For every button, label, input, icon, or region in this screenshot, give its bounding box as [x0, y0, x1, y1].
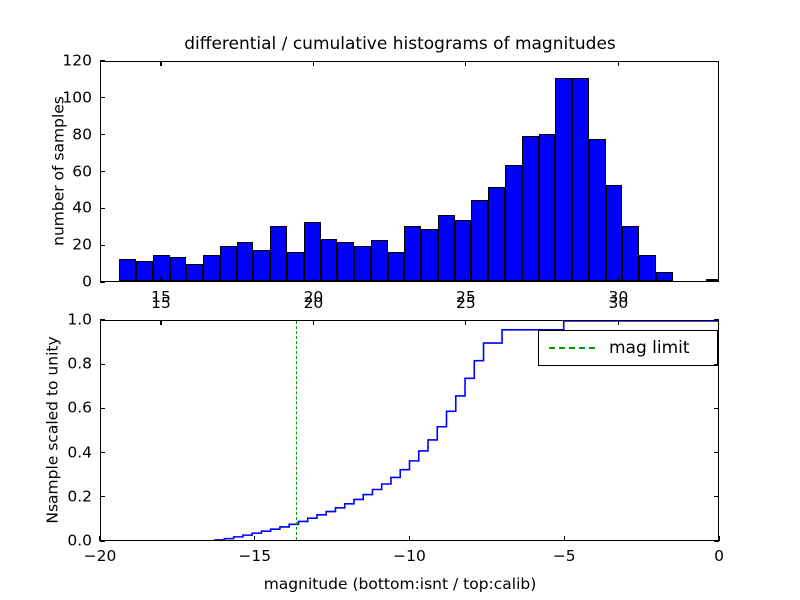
x-tick-top [313, 61, 314, 66]
y-tick [100, 97, 105, 98]
x-tick-label: −10 [393, 549, 426, 565]
x-tick-top [618, 61, 619, 66]
x-tick-secondary [160, 320, 161, 325]
x-tick-secondary [313, 320, 314, 325]
histogram-bar [304, 222, 321, 281]
x-tick-label-secondary: 30 [608, 296, 628, 312]
histogram-bar [136, 261, 153, 281]
histogram-bar [488, 187, 505, 281]
histogram-bar [438, 215, 455, 281]
x-tick-secondary [618, 320, 619, 325]
x-tick [160, 277, 161, 282]
x-tick [254, 536, 255, 541]
y-tick-right [714, 496, 719, 497]
histogram-plot-area [101, 62, 718, 281]
histogram-bar [639, 255, 656, 281]
histogram-bar [186, 264, 203, 281]
histogram-bar [119, 259, 136, 281]
y-tick [100, 171, 105, 172]
histogram-bar [220, 246, 237, 281]
y-tick [100, 540, 105, 541]
y-tick [100, 364, 105, 365]
mag-limit-vline [296, 321, 297, 540]
y-tick [100, 408, 105, 409]
x-tick [718, 536, 719, 541]
histogram-bar [203, 255, 220, 281]
histogram-bar [388, 252, 405, 281]
histogram-bar [539, 134, 556, 281]
x-tick-label-secondary: 20 [304, 296, 324, 312]
cumulative-x-axis-label: magnitude (bottom:isnt / top:calib) [0, 575, 800, 593]
histogram-bar [354, 246, 371, 281]
x-tick-label: −20 [84, 549, 117, 565]
histogram-bar [522, 136, 539, 281]
x-tick-top [465, 61, 466, 66]
histogram-bar [471, 200, 488, 281]
x-tick-top [160, 61, 161, 66]
y-tick-right [714, 408, 719, 409]
histogram-bar [555, 78, 572, 281]
cumulative-y-axis-label: Nsample scaled to unity [44, 319, 62, 540]
histogram-bar [656, 272, 673, 281]
histogram-bar [321, 239, 338, 281]
x-tick-label: −15 [238, 549, 271, 565]
x-tick [618, 277, 619, 282]
y-tick-right [714, 364, 719, 365]
histogram-bar [606, 185, 623, 281]
y-tick [100, 452, 105, 453]
differential-histogram-axes [100, 61, 719, 282]
x-tick [409, 536, 410, 541]
y-tick [100, 496, 105, 497]
x-tick-label: −5 [553, 549, 576, 565]
cumulative-histogram-axes: mag limit [100, 320, 719, 541]
histogram-bar [270, 226, 287, 281]
x-tick-label-secondary: 25 [456, 296, 476, 312]
histogram-bar [505, 165, 522, 281]
histogram-bar [287, 252, 304, 281]
histogram-bar [170, 257, 187, 281]
histogram-bar [589, 139, 606, 281]
y-tick [100, 245, 105, 246]
y-tick [100, 134, 105, 135]
histogram-bar [572, 78, 589, 281]
histogram-bar [237, 242, 254, 281]
histogram-bar [421, 229, 438, 281]
x-tick-label-secondary: 15 [151, 296, 171, 312]
histogram-bar [706, 279, 718, 281]
y-tick [100, 60, 105, 61]
histogram-bar [455, 220, 472, 281]
y-tick [100, 208, 105, 209]
histogram-bar [371, 240, 388, 281]
y-tick [100, 319, 105, 320]
mag-limit-legend-swatch [549, 347, 595, 349]
histogram-y-axis-label: number of samples [50, 60, 68, 281]
x-tick-label: 0 [714, 549, 724, 565]
x-tick [564, 536, 565, 541]
histogram-bar [253, 250, 270, 281]
y-tick [100, 281, 105, 282]
figure-canvas: differential / cumulative histograms of … [0, 0, 800, 600]
histogram-bar [337, 242, 354, 281]
x-tick [465, 277, 466, 282]
histogram-bar [404, 226, 421, 281]
legend: mag limit [538, 330, 718, 366]
x-tick [99, 536, 100, 541]
histogram-bar [622, 226, 639, 281]
y-tick-right [714, 319, 719, 320]
x-tick [313, 277, 314, 282]
page-title: differential / cumulative histograms of … [0, 34, 800, 54]
x-tick-secondary [465, 320, 466, 325]
y-tick-right [714, 452, 719, 453]
legend-label-mag-limit: mag limit [609, 338, 690, 358]
